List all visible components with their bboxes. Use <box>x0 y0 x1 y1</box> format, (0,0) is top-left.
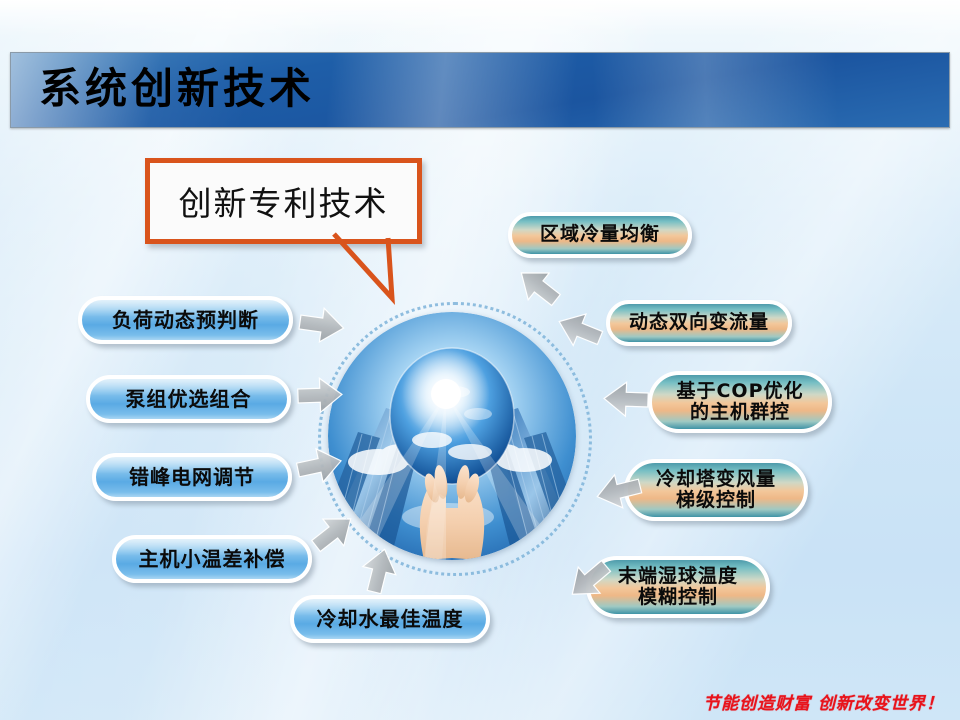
feature-pill-cop-chiller-control[interactable]: 基于COP优化 的主机群控 <box>648 371 832 433</box>
feature-pill-label: 泵组优选组合 <box>126 388 252 410</box>
footer-slogan: 节能创造财富 创新改变世界！ <box>703 689 944 714</box>
feature-pill-label: 末端湿球温度 模糊控制 <box>618 566 738 609</box>
callout-pointer-tail <box>330 232 440 307</box>
arrow-icon-right-3 <box>603 381 648 417</box>
page-title: 系统创新技术 <box>39 68 315 110</box>
feature-pill-label: 冷却水最佳温度 <box>317 608 464 630</box>
callout-label: 创新专利技术 <box>179 177 389 225</box>
feature-pill-load-forecast[interactable]: 负荷动态预判断 <box>78 296 293 344</box>
feature-pill-cooling-tower-fan[interactable]: 冷却塔变风量 梯级控制 <box>624 459 808 521</box>
center-hub <box>318 302 586 570</box>
title-banner: 系统创新技术 <box>10 52 950 128</box>
feature-pill-label: 区域冷量均衡 <box>540 224 660 245</box>
globe-in-hands-image <box>328 312 576 560</box>
feature-pill-label: 负荷动态预判断 <box>112 309 259 331</box>
feature-pill-label: 基于COP优化 的主机群控 <box>676 381 803 424</box>
feature-pill-label: 动态双向变流量 <box>629 312 769 333</box>
feature-pill-bidirectional-flow[interactable]: 动态双向变流量 <box>606 300 792 346</box>
slide-canvas: 系统创新技术 创新专利技术 <box>0 0 960 720</box>
feature-pill-peak-shifting[interactable]: 错峰电网调节 <box>92 453 292 501</box>
feature-pill-label: 冷却塔变风量 梯级控制 <box>656 469 776 512</box>
feature-pill-small-delta-t[interactable]: 主机小温差补偿 <box>112 535 312 583</box>
feature-pill-label: 主机小温差补偿 <box>139 548 286 570</box>
feature-pill-wet-bulb-fuzzy[interactable]: 末端湿球温度 模糊控制 <box>586 556 770 618</box>
feature-pill-cooling-water-temp[interactable]: 冷却水最佳温度 <box>290 595 490 643</box>
feature-pill-zone-balance[interactable]: 区域冷量均衡 <box>508 212 692 258</box>
feature-pill-label: 错峰电网调节 <box>129 466 255 488</box>
feature-pill-pump-group[interactable]: 泵组优选组合 <box>86 375 291 423</box>
